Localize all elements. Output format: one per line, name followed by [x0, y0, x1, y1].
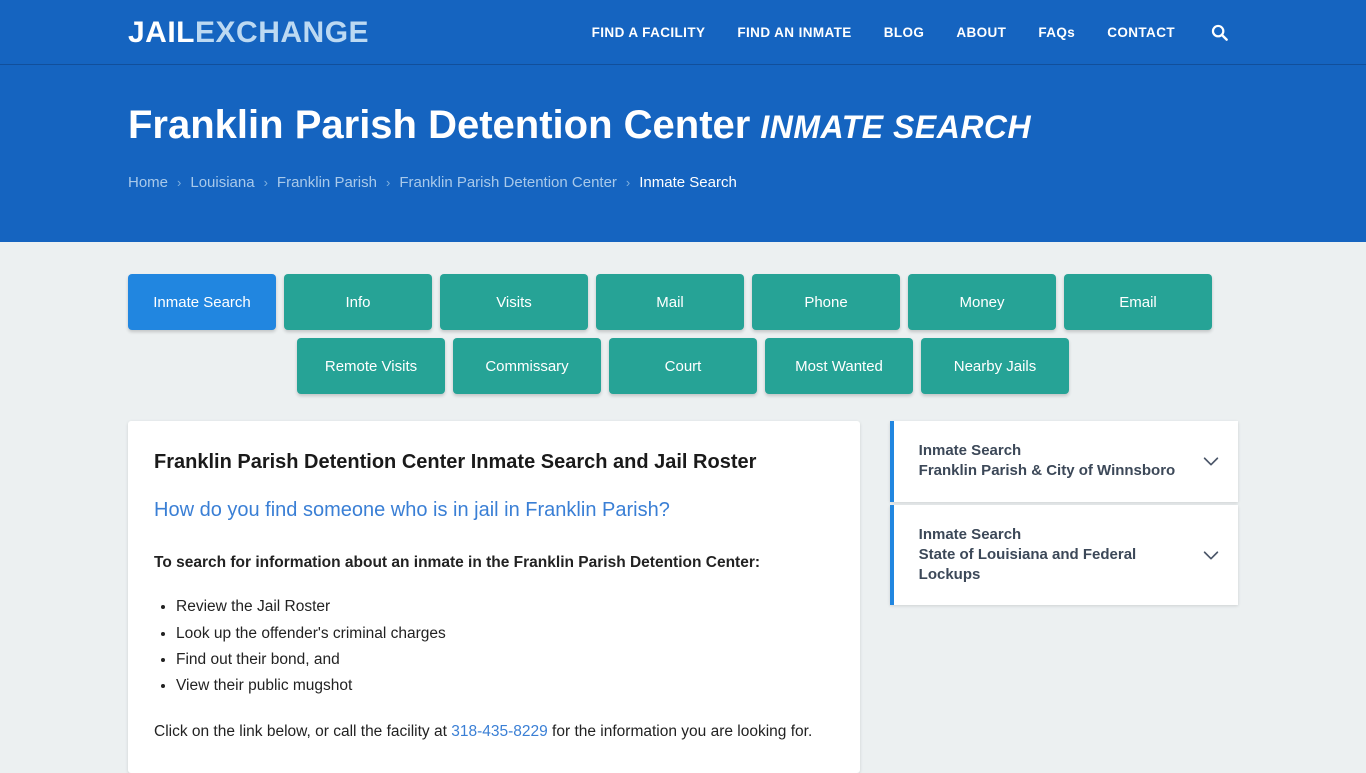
tab-nearby-jails[interactable]: Nearby Jails	[921, 338, 1069, 394]
tab-most-wanted[interactable]: Most Wanted	[765, 338, 913, 394]
tab-phone[interactable]: Phone	[752, 274, 900, 330]
facility-tabs-row-1: Inmate Search Info Visits Mail Phone Mon…	[128, 274, 1238, 330]
tab-court[interactable]: Court	[609, 338, 757, 394]
list-item: Look up the offender's criminal charges	[176, 621, 834, 647]
sidebar: Inmate Search Franklin Parish & City of …	[890, 421, 1238, 605]
accordion-title: Inmate Search	[919, 525, 1190, 545]
breadcrumb-item-louisiana[interactable]: Louisiana	[190, 174, 254, 191]
tab-visits[interactable]: Visits	[440, 274, 588, 330]
list-item: Review the Jail Roster	[176, 594, 834, 620]
accordion-item-local-search[interactable]: Inmate Search Franklin Parish & City of …	[890, 421, 1238, 502]
nav-item-find-an-inmate[interactable]: FIND AN INMATE	[721, 0, 867, 65]
breadcrumb-separator-icon: ›	[264, 175, 268, 190]
article-intro-paragraph: To search for information about an inmat…	[154, 552, 804, 574]
nav-item-contact[interactable]: CONTACT	[1091, 0, 1191, 65]
breadcrumb-separator-icon: ›	[177, 175, 181, 190]
site-logo[interactable]: JAILEXCHANGE	[128, 18, 369, 48]
breadcrumb-separator-icon: ›	[626, 175, 630, 190]
site-header: JAILEXCHANGE FIND A FACILITY FIND AN INM…	[0, 0, 1366, 65]
tab-money[interactable]: Money	[908, 274, 1056, 330]
tab-inmate-search[interactable]: Inmate Search	[128, 274, 276, 330]
tab-email[interactable]: Email	[1064, 274, 1212, 330]
breadcrumb-item-detention-center[interactable]: Franklin Parish Detention Center	[399, 174, 617, 191]
facility-phone-link[interactable]: 318-435-8229	[451, 723, 548, 740]
accordion-label: Inmate Search State of Louisiana and Fed…	[919, 525, 1200, 586]
search-icon[interactable]	[1191, 24, 1238, 41]
chevron-down-icon[interactable]	[1200, 544, 1222, 566]
list-item: Find out their bond, and	[176, 647, 834, 673]
article-subheading: How do you find someone who is in jail i…	[154, 497, 834, 523]
article-card: Franklin Parish Detention Center Inmate …	[128, 421, 860, 773]
breadcrumb-item-home[interactable]: Home	[128, 174, 168, 191]
nav-item-about[interactable]: ABOUT	[940, 0, 1022, 65]
list-item: View their public mugshot	[176, 673, 834, 699]
accordion-label: Inmate Search Franklin Parish & City of …	[919, 441, 1186, 482]
accordion-title: Inmate Search	[919, 441, 1176, 461]
nav-item-blog[interactable]: BLOG	[868, 0, 941, 65]
breadcrumb-separator-icon: ›	[386, 175, 390, 190]
facility-tabs: Inmate Search Info Visits Mail Phone Mon…	[0, 242, 1366, 394]
article-bullet-list: Review the Jail Roster Look up the offen…	[154, 594, 834, 698]
accordion-item-state-search[interactable]: Inmate Search State of Louisiana and Fed…	[890, 505, 1238, 606]
tab-info[interactable]: Info	[284, 274, 432, 330]
footer-text-after: for the information you are looking for.	[548, 723, 813, 740]
facility-tabs-row-2: Remote Visits Commissary Court Most Want…	[128, 338, 1238, 394]
logo-text-primary: JAIL	[128, 16, 195, 49]
logo-text-secondary: EXCHANGE	[195, 16, 369, 49]
article-heading: Franklin Parish Detention Center Inmate …	[154, 449, 834, 475]
nav-item-faqs[interactable]: FAQs	[1022, 0, 1091, 65]
page-title: Franklin Parish Detention CenterINMATE S…	[128, 65, 1238, 147]
footer-text-before: Click on the link below, or call the fac…	[154, 723, 451, 740]
tab-remote-visits[interactable]: Remote Visits	[297, 338, 445, 394]
hero-banner: Franklin Parish Detention CenterINMATE S…	[0, 65, 1366, 242]
breadcrumb-item-franklin-parish[interactable]: Franklin Parish	[277, 174, 377, 191]
article-footer-paragraph: Click on the link below, or call the fac…	[154, 721, 834, 743]
content-area: Franklin Parish Detention Center Inmate …	[0, 402, 1366, 773]
tab-commissary[interactable]: Commissary	[453, 338, 601, 394]
page-title-section: INMATE SEARCH	[760, 109, 1031, 145]
breadcrumb: Home › Louisiana › Franklin Parish › Fra…	[128, 174, 1238, 191]
chevron-down-icon[interactable]	[1200, 450, 1222, 472]
nav-item-find-a-facility[interactable]: FIND A FACILITY	[576, 0, 722, 65]
page-title-facility: Franklin Parish Detention Center	[128, 103, 750, 147]
main-navigation: FIND A FACILITY FIND AN INMATE BLOG ABOU…	[576, 0, 1238, 65]
accordion-subtitle: State of Louisiana and Federal Lockups	[919, 545, 1190, 586]
accordion-subtitle: Franklin Parish & City of Winnsboro	[919, 461, 1176, 481]
breadcrumb-item-current: Inmate Search	[639, 174, 737, 191]
tab-mail[interactable]: Mail	[596, 274, 744, 330]
